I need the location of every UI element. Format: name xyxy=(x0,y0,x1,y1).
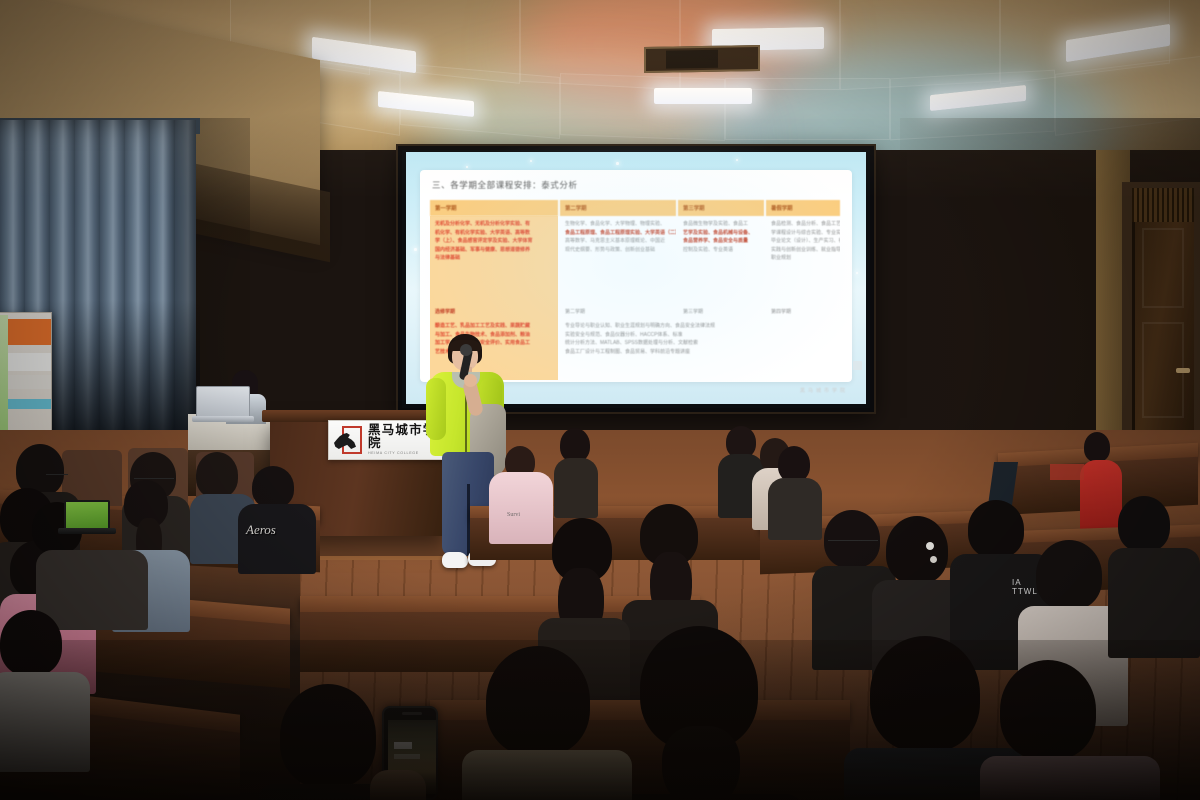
head xyxy=(886,516,948,584)
table-header-row: 第一学期 第二学期 第三学期 暑假学期 xyxy=(430,200,842,216)
slide-sparkle xyxy=(856,272,858,274)
cell-line: 第三学期 xyxy=(683,308,760,317)
aeros-jacket-text: Aeros xyxy=(246,522,276,538)
cell-line: 第四学期 xyxy=(771,308,836,317)
cell-line: 专业导论与职业认知、职业生涯规划与明确方向、食品安全法律法规 xyxy=(565,322,836,331)
projector-mount-opening xyxy=(644,45,760,73)
head xyxy=(778,446,810,482)
table-cell-semester3: 食品微生物学及实验、食品工 艺学及实验、食品机械与设备、 食品营养学、食品安全与… xyxy=(678,216,766,304)
pink-jacket-text: Survi xyxy=(507,512,520,518)
foreground-shadow xyxy=(0,640,1200,800)
cell-line: 机化学、有机化学实验、大学英语、高等数 xyxy=(435,229,554,238)
slide-watermark: 黑马城市学院 xyxy=(800,387,848,394)
cell-line: 食品营养学、食品安全与质量 xyxy=(683,237,760,246)
table-header-cell: 第三学期 xyxy=(678,200,766,216)
ceiling-led-panel xyxy=(654,88,752,104)
cell-line: 食品检测、食品分析、食品工艺 xyxy=(771,220,836,229)
head xyxy=(1118,496,1170,552)
head xyxy=(968,500,1024,558)
table-header-cell: 暑假学期 xyxy=(766,200,842,216)
cell-line: 高等数学、马克思主义基本原理概论、中国近 xyxy=(565,237,672,246)
head xyxy=(252,466,294,508)
door-panel xyxy=(1142,228,1184,308)
cell-line: 食品工程原理、食品工程原理实验、大学英语（二）、 xyxy=(565,229,672,238)
head xyxy=(560,428,590,462)
torso xyxy=(768,478,822,540)
cell-line: 食品微生物学及实验、食品工 xyxy=(683,220,760,229)
cell-line: 职业规划 xyxy=(771,254,836,263)
red-coat xyxy=(1080,460,1122,532)
cell-line: 与法律基础 xyxy=(435,254,554,263)
cell-line: 艺学及实验、食品机械与设备、 xyxy=(683,229,760,238)
table-header-cell: 第一学期 xyxy=(430,200,560,216)
table-cell-elective-label: 选修学期 xyxy=(430,304,560,318)
operator-laptop-keyboard[interactable] xyxy=(192,416,254,422)
table-cell-summer-semester: 食品检测、食品分析、食品工艺 学课程设计与综合实验、专业实习 毕业论文（设计）、… xyxy=(766,216,842,304)
slide-title: 三、各学期全部课程安排：泰式分析 xyxy=(432,179,578,191)
cell-line: 学（上）、食品感官评定学及实验、大学体育 xyxy=(435,237,554,246)
student-laptop-screen[interactable] xyxy=(64,500,110,530)
cell-line: 第二学期 xyxy=(565,308,672,317)
head xyxy=(1084,432,1110,462)
table-body-row-one: 无机及分析化学、无机及分析化学实验、有 机化学、有机化学实验、大学英语、高等数 … xyxy=(430,216,842,304)
dark-jacket-text: IA TTWL xyxy=(1012,578,1038,596)
black-jacket xyxy=(238,504,316,574)
desk-red-cloth xyxy=(1050,464,1084,480)
head xyxy=(196,452,238,498)
glasses xyxy=(828,540,878,544)
cell-line: 选修学期 xyxy=(435,308,554,317)
operator-laptop-screen[interactable] xyxy=(196,386,250,418)
poster-side-strip xyxy=(0,315,8,439)
cell-line: 食品工厂设计与工程制图、食品贸易、学科前沿专题讲座 xyxy=(565,348,836,357)
cell-line: 酿造工艺、乳品加工工艺及实践、果蔬贮藏 xyxy=(435,322,554,331)
cell-line: 毕业论文（设计）、生产实习、社会 xyxy=(771,237,836,246)
table-header-cell: 第二学期 xyxy=(560,200,678,216)
grey-sleeve xyxy=(36,550,148,630)
cell-line: 生物化学、食品化学、大学物理、物理实验、 xyxy=(565,220,672,229)
black-horse-logo-icon xyxy=(334,426,364,454)
lecture-hall-photo: 三、各学期全部课程安排：泰式分析 第一学期 第二学期 第三学期 暑假学期 无机及… xyxy=(0,0,1200,800)
table-cell-label-4: 第四学期 xyxy=(766,304,842,318)
door-handle[interactable] xyxy=(1176,368,1190,373)
head xyxy=(1036,540,1102,610)
slide-sparkle xyxy=(530,160,532,162)
cell-line: 现代史纲要、形势与政策、创新创业基础 xyxy=(565,246,672,255)
table-cell-semester2: 生物化学、食品化学、大学物理、物理实验、 食品工程原理、食品工程原理实验、大学英… xyxy=(560,216,678,304)
hair-clip xyxy=(926,542,934,550)
table-cell-label-3: 第三学期 xyxy=(678,304,766,318)
cell-line: 实验安全与规范、食品仪器分析、HACCP体系、标准 xyxy=(565,331,836,340)
cell-line: 国内经济基础、军事与健康、思想道德修养 xyxy=(435,246,554,255)
cell-line: 统计分析方法、MATLAB、SPSS数据处理与分析、文献检索 xyxy=(565,339,836,348)
cell-line: 无机及分析化学、无机及分析化学实验、有 xyxy=(435,220,554,229)
cell-line: 实践与创新创业训练、就业指导与 xyxy=(771,246,836,255)
glasses xyxy=(46,474,68,478)
presenter-hand xyxy=(464,374,477,387)
hair-clip xyxy=(930,556,937,563)
student-laptop-keyboard[interactable] xyxy=(58,528,116,534)
table-cell-label-2: 第二学期 xyxy=(560,304,678,318)
slide-sparkle xyxy=(616,162,619,165)
slide-sparkle xyxy=(736,159,738,161)
slide-corner-logo-icon xyxy=(853,361,862,370)
table-cell-elective-detail: 专业导论与职业认知、职业生涯规划与明确方向、食品安全法律法规 实验安全与规范、食… xyxy=(560,318,842,380)
wall-poster-board xyxy=(0,312,52,440)
door-transom-grille xyxy=(1132,188,1194,222)
presenter-left-arm xyxy=(426,378,446,440)
cell-line: 控制及实验、专业英语 xyxy=(683,246,760,255)
microphone-head[interactable] xyxy=(460,344,472,356)
table-subheader-row: 选修学期 第二学期 第三学期 第四学期 xyxy=(430,304,842,318)
table-cell-semester1: 无机及分析化学、无机及分析化学实验、有 机化学、有机化学实验、大学英语、高等数 … xyxy=(430,216,560,304)
slide-sparkle xyxy=(466,166,468,168)
slide-sparkle xyxy=(414,248,417,251)
pink-jacket xyxy=(489,472,553,544)
torso xyxy=(554,458,598,518)
presenter-left-shoe xyxy=(442,552,468,568)
cell-line: 学课程设计与综合实验、专业实习 xyxy=(771,229,836,238)
head xyxy=(824,510,880,568)
